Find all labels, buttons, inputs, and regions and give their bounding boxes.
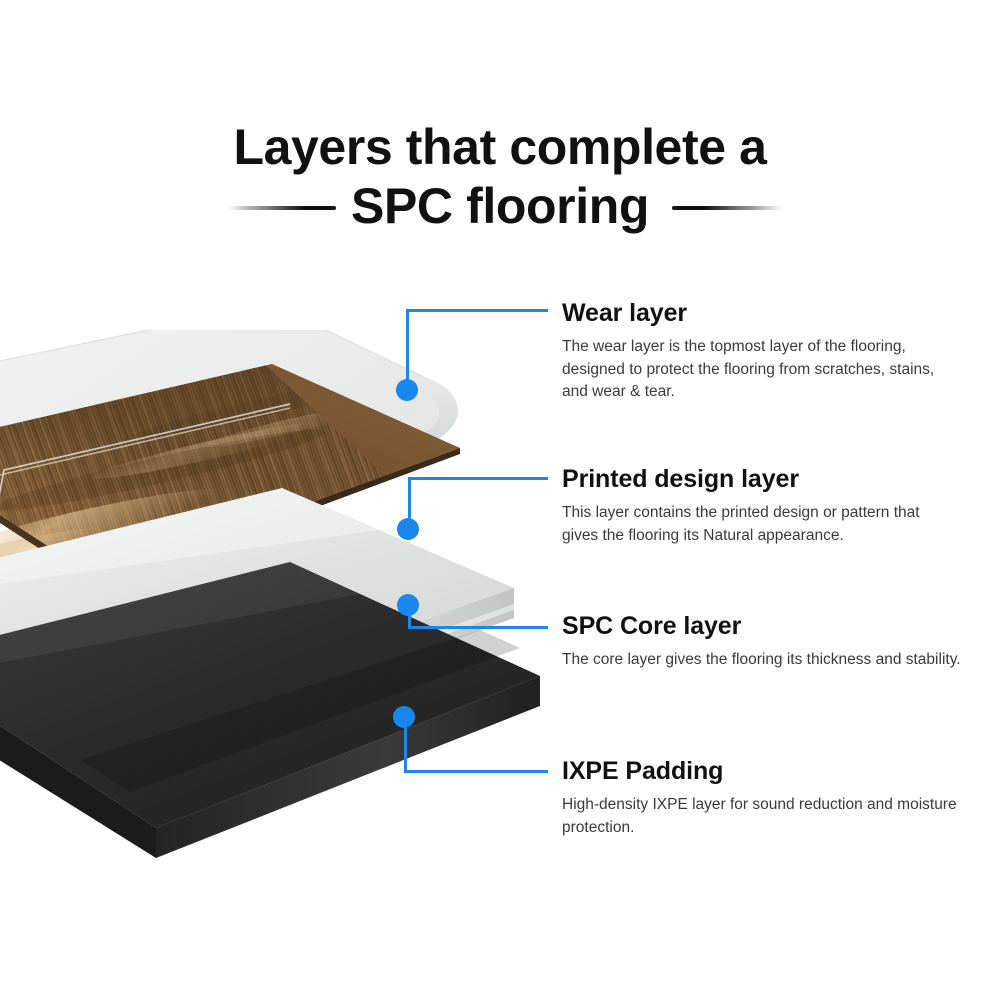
title-line-2: SPC flooring [351,178,649,234]
title-dash-left-icon [228,206,336,210]
connector-vertical-line [406,309,409,389]
callout-body-printed-design-layer: This layer contains the printed design o… [562,502,954,547]
callout-body-wear-layer: The wear layer is the topmost layer of t… [562,336,954,404]
connector-horizontal-line [408,626,548,629]
connector-horizontal-line [406,309,548,312]
connector-horizontal-line [408,477,548,480]
title-dash-right-icon [672,206,782,210]
connector-dot-printed-design-layer [397,518,419,540]
connector-dot-spc-core-layer [397,594,419,616]
title-line-1: Layers that complete a [0,118,1000,177]
callout-title-wear-layer: Wear layer [562,298,954,329]
connector-horizontal-line [404,770,548,773]
callout-title-printed-design-layer: Printed design layer [562,464,954,495]
spc-flooring-exploded-illustration [0,330,560,890]
callout-title-ixpe-padding: IXPE Padding [562,756,962,787]
page-title: Layers that complete a SPC flooring [0,118,1000,236]
connector-dot-wear-layer [396,379,418,401]
callout-wear-layer: Wear layer The wear layer is the topmost… [562,298,954,404]
infographic-page: Layers that complete a SPC flooring [0,0,1000,1000]
connector-dot-ixpe-padding [393,706,415,728]
callout-printed-design-layer: Printed design layer This layer contains… [562,464,954,547]
callout-title-spc-core-layer: SPC Core layer [562,611,962,642]
callout-spc-core-layer: SPC Core layer The core layer gives the … [562,611,962,672]
callout-ixpe-padding: IXPE Padding High-density IXPE layer for… [562,756,962,839]
callout-body-spc-core-layer: The core layer gives the flooring its th… [562,649,962,672]
callout-body-ixpe-padding: High-density IXPE layer for sound reduct… [562,794,962,839]
title-line-2-row: SPC flooring [0,177,1000,236]
